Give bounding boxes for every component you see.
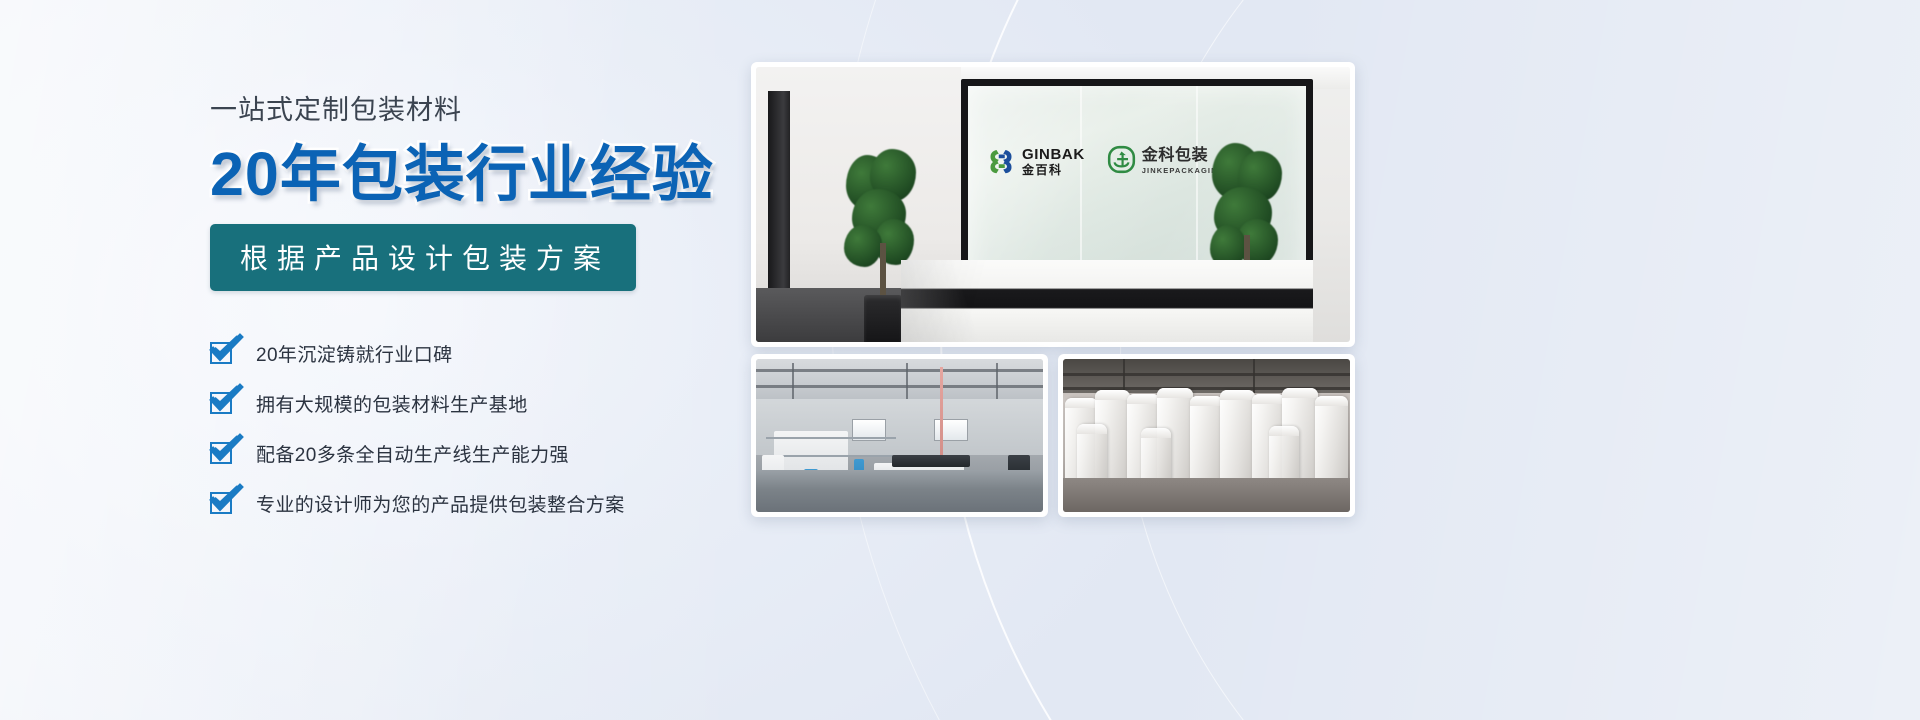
ginbak-logo: GINBAK 金百科	[986, 144, 1085, 179]
fabric-rolls-scene	[1063, 359, 1350, 512]
ginbak-brand-name-cn: 金百科	[1022, 164, 1085, 176]
list-item: 专业的设计师为您的产品提供包装整合方案	[210, 481, 770, 525]
ginbak-chain-icon	[986, 144, 1016, 179]
ginbak-brand-name: GINBAK	[1022, 147, 1085, 162]
reception-counter	[901, 260, 1313, 342]
checkbox-check-icon	[210, 342, 232, 364]
hero-banner: 一站式定制包装材料 20年包装行业经验 根据产品设计包装方案 20年沉淀铸就行业…	[0, 0, 1920, 720]
brand-logo-strip: GINBAK 金百科	[986, 144, 1225, 179]
list-item: 20年沉淀铸就行业口碑	[210, 331, 770, 375]
list-item-label: 拥有大规模的包装材料生产基地	[256, 390, 528, 417]
checkbox-check-icon	[210, 392, 232, 414]
list-item-label: 专业的设计师为您的产品提供包装整合方案	[256, 490, 625, 517]
office-reception-photo: GINBAK 金百科	[751, 62, 1355, 347]
fabric-rolls-photo	[1058, 354, 1355, 517]
checkbox-check-icon	[210, 492, 232, 514]
feature-list: 20年沉淀铸就行业口碑 拥有大规模的包装材料生产基地	[210, 331, 770, 525]
hero-headline: 20年包装行业经验	[210, 140, 770, 208]
list-item-label: 20年沉淀铸就行业口碑	[256, 340, 453, 367]
list-item-label: 配备20多条全自动生产线生产能力强	[256, 440, 569, 467]
office-scene: GINBAK 金百科	[756, 67, 1350, 342]
hero-tagline-banner: 根据产品设计包装方案	[210, 224, 636, 291]
factory-scene	[756, 359, 1043, 512]
jinke-emblem-icon	[1107, 145, 1136, 179]
production-line-photo	[751, 354, 1048, 517]
hero-eyebrow: 一站式定制包装材料	[210, 96, 770, 126]
list-item: 拥有大规模的包装材料生产基地	[210, 381, 770, 425]
photo-collage: GINBAK 金百科	[751, 62, 1355, 517]
hero-text-column: 一站式定制包装材料 20年包装行业经验 根据产品设计包装方案 20年沉淀铸就行业…	[210, 96, 770, 531]
jinke-logo: 金科包装 JINKEPACKAGING	[1107, 145, 1225, 179]
checkbox-check-icon	[210, 442, 232, 464]
door-frame	[768, 91, 790, 306]
ginbak-logo-text: GINBAK 金百科	[1022, 147, 1085, 176]
list-item: 配备20多条全自动生产线生产能力强	[210, 431, 770, 475]
